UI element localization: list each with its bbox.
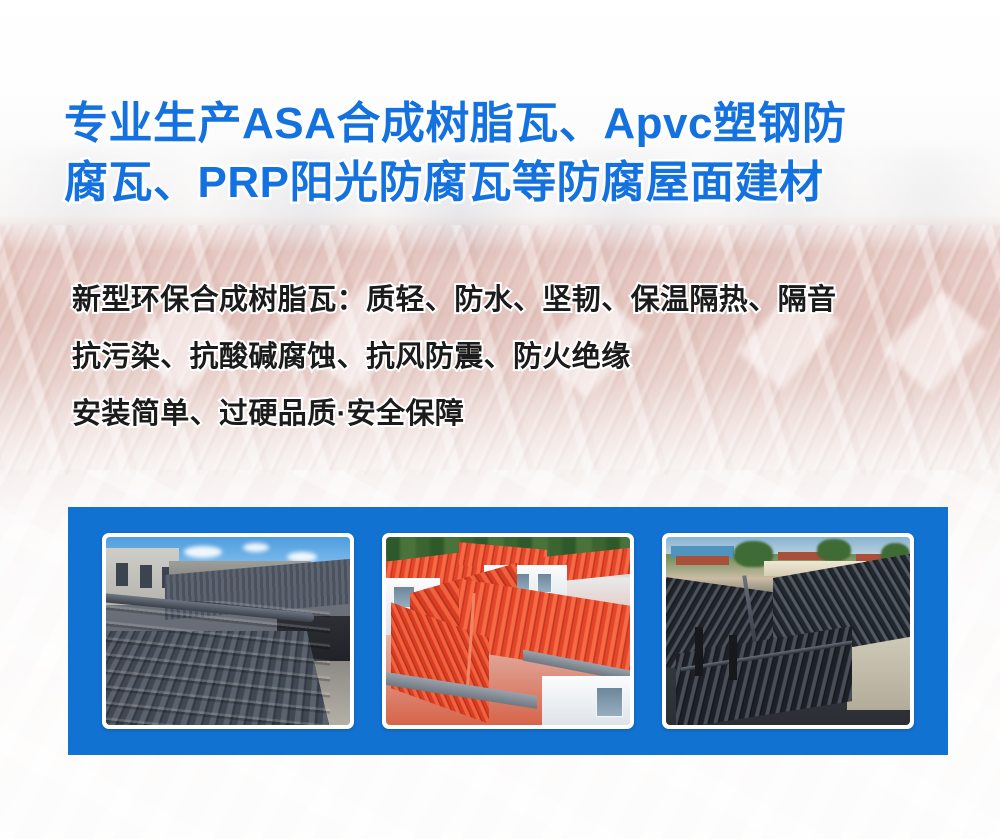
photo3-support-column xyxy=(695,627,702,676)
photo-frame-1[interactable] xyxy=(102,533,354,729)
photo-gray-resin-tile-roof xyxy=(106,537,350,725)
photo-black-resin-tile-roof xyxy=(666,537,910,725)
photo-red-resin-tile-roof xyxy=(386,537,630,725)
banner-content: 专业生产ASA合成树脂瓦、Apvc塑钢防 腐瓦、PRP阳光防腐瓦等防腐屋面建材 … xyxy=(0,0,1000,839)
subheading-line-3: 安装简单、过硬品质·安全保障 xyxy=(72,386,952,443)
photo-frame-2[interactable] xyxy=(382,533,634,729)
photo-gallery-panel xyxy=(68,507,948,755)
headline: 专业生产ASA合成树脂瓦、Apvc塑钢防 腐瓦、PRP阳光防腐瓦等防腐屋面建材 xyxy=(64,94,944,212)
photo3-tree xyxy=(817,539,851,562)
subheading-line-2: 抗污染、抗酸碱腐蚀、抗风防震、防火绝缘 xyxy=(72,329,952,386)
photo1-window xyxy=(140,565,152,588)
photo3-village-roof xyxy=(676,556,730,565)
subheading-list: 新型环保合成树脂瓦：质轻、防水、坚韧、保温隔热、隔音 抗污染、抗酸碱腐蚀、抗风防… xyxy=(72,272,952,443)
subheading-line-1: 新型环保合成树脂瓦：质轻、防水、坚韧、保温隔热、隔音 xyxy=(72,272,952,329)
photo1-window xyxy=(116,563,128,586)
product-promo-banner: 专业生产ASA合成树脂瓦、Apvc塑钢防 腐瓦、PRP阳光防腐瓦等防腐屋面建材 … xyxy=(0,0,1000,839)
photo2-window xyxy=(537,573,552,594)
photo-frame-3[interactable] xyxy=(662,533,914,729)
photo3-support-column xyxy=(729,635,736,680)
photo2-window xyxy=(596,687,623,717)
photo1-cloud xyxy=(243,543,269,552)
